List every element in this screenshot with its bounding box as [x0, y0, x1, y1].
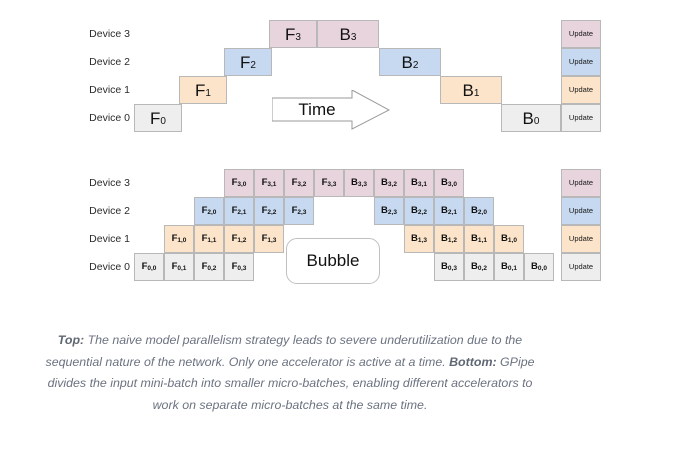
bottom-backward-cell-B00: B0,0 — [524, 253, 554, 281]
bottom-backward-cell-B21-subscript: 2,1 — [448, 210, 457, 217]
top-backward-block-B2: B2 — [379, 48, 441, 76]
bottom-forward-cell-F31: F3,1 — [254, 169, 284, 197]
bottom-backward-cell-B10-subscript: 1,0 — [508, 238, 517, 245]
caption-lead-bottom: Bottom: — [449, 355, 496, 369]
bottom-forward-cell-F03: F0,3 — [224, 253, 254, 281]
top-device-label-0: Device 0 — [72, 104, 130, 132]
bottom-backward-cell-B30: B3,0 — [434, 169, 464, 197]
bottom-forward-cell-F11: F1,1 — [194, 225, 224, 253]
bottom-device-label-3: Device 3 — [72, 169, 130, 197]
bottom-backward-cell-B12: B1,2 — [434, 225, 464, 253]
bottom-forward-cell-F00: F0,0 — [134, 253, 164, 281]
top-backward-block-B0: B0 — [501, 104, 561, 132]
top-backward-block-B1: B1 — [440, 76, 502, 104]
top-update-cell-device-0: Update — [561, 104, 601, 132]
top-forward-block-F3-subscript: 3 — [295, 33, 301, 43]
time-arrow-label: Time — [269, 91, 365, 129]
bottom-forward-cell-F10: F1,0 — [164, 225, 194, 253]
top-update-cell-device-3: Update — [561, 20, 601, 48]
bottom-forward-cell-F03-subscript: 0,3 — [237, 266, 246, 273]
bottom-backward-cell-B31: B3,1 — [404, 169, 434, 197]
top-forward-block-F0: F0 — [134, 104, 182, 132]
bottom-forward-cell-F33-subscript: 3,3 — [327, 182, 336, 189]
bottom-forward-cell-F00-subscript: 0,0 — [147, 266, 156, 273]
bottom-forward-cell-F13: F1,3 — [254, 225, 284, 253]
bottom-forward-cell-F22-subscript: 2,2 — [267, 210, 276, 217]
top-forward-block-F1: F1 — [179, 76, 227, 104]
top-device-label-1: Device 1 — [72, 76, 130, 104]
bottom-forward-cell-F20-subscript: 2,0 — [207, 210, 216, 217]
gpipe-figure: Device 0Device 1Device 2Device 3F0F1F2F3… — [0, 0, 679, 451]
bottom-forward-cell-F12-subscript: 1,2 — [237, 238, 246, 245]
bottom-forward-cell-F33: F3,3 — [314, 169, 344, 197]
bottom-backward-cell-B01: B0,1 — [494, 253, 524, 281]
top-backward-block-B3: B3 — [317, 20, 379, 48]
bottom-backward-cell-B21: B2,1 — [434, 197, 464, 225]
bottom-backward-cell-B32-subscript: 3,2 — [388, 182, 397, 189]
bottom-forward-cell-F02-subscript: 0,2 — [207, 266, 216, 273]
bottom-forward-cell-F20: F2,0 — [194, 197, 224, 225]
top-backward-block-B3-subscript: 3 — [351, 33, 357, 43]
bottom-forward-cell-F23-subscript: 2,3 — [297, 210, 306, 217]
bottom-update-cell-device-3: Update — [561, 169, 601, 197]
bottom-forward-cell-F32: F3,2 — [284, 169, 314, 197]
bottom-backward-cell-B23-subscript: 2,3 — [388, 210, 397, 217]
bottom-backward-cell-B12-subscript: 1,2 — [448, 238, 457, 245]
top-backward-block-B0-subscript: 0 — [534, 117, 540, 127]
bottom-backward-cell-B33: B3,3 — [344, 169, 374, 197]
bottom-backward-cell-B31-subscript: 3,1 — [418, 182, 427, 189]
bottom-backward-cell-B13: B1,3 — [404, 225, 434, 253]
bottom-forward-cell-F01: F0,1 — [164, 253, 194, 281]
top-device-label-2: Device 2 — [72, 48, 130, 76]
bottom-backward-cell-B30-subscript: 3,0 — [448, 182, 457, 189]
bottom-backward-cell-B23: B2,3 — [374, 197, 404, 225]
bottom-device-label-0: Device 0 — [72, 253, 130, 281]
top-update-cell-device-1: Update — [561, 76, 601, 104]
bottom-device-label-1: Device 1 — [72, 225, 130, 253]
bottom-backward-cell-B22: B2,2 — [404, 197, 434, 225]
bottom-forward-cell-F30-subscript: 3,0 — [237, 182, 246, 189]
bottom-backward-cell-B33-subscript: 3,3 — [358, 182, 367, 189]
bottom-forward-cell-F30: F3,0 — [224, 169, 254, 197]
top-forward-block-F2-subscript: 2 — [250, 61, 256, 71]
bottom-backward-cell-B03: B0,3 — [434, 253, 464, 281]
bottom-backward-cell-B13-subscript: 1,3 — [418, 238, 427, 245]
bottom-forward-cell-F02: F0,2 — [194, 253, 224, 281]
bottom-forward-cell-F23: F2,3 — [284, 197, 314, 225]
bottom-forward-cell-F21-subscript: 2,1 — [237, 210, 246, 217]
bottom-backward-cell-B22-subscript: 2,2 — [418, 210, 427, 217]
bottom-device-label-2: Device 2 — [72, 197, 130, 225]
bottom-backward-cell-B11-subscript: 1,1 — [478, 238, 487, 245]
bottom-backward-cell-B02-subscript: 0,2 — [478, 266, 487, 273]
bottom-update-cell-device-2: Update — [561, 197, 601, 225]
bottom-forward-cell-F32-subscript: 3,2 — [297, 182, 306, 189]
bottom-backward-cell-B20: B2,0 — [464, 197, 494, 225]
bottom-backward-cell-B32: B3,2 — [374, 169, 404, 197]
bottom-backward-cell-B01-subscript: 0,1 — [508, 266, 517, 273]
bottom-backward-cell-B03-subscript: 0,3 — [448, 266, 457, 273]
figure-caption: Top: The naive model parallelism strateg… — [40, 330, 540, 417]
top-forward-block-F1-subscript: 1 — [205, 89, 211, 99]
top-forward-block-F0-subscript: 0 — [160, 117, 166, 127]
bubble-box: Bubble — [286, 238, 380, 284]
bottom-update-cell-device-1: Update — [561, 225, 601, 253]
top-device-label-3: Device 3 — [72, 20, 130, 48]
bottom-forward-cell-F31-subscript: 3,1 — [267, 182, 276, 189]
bottom-forward-cell-F13-subscript: 1,3 — [267, 238, 276, 245]
bottom-update-cell-device-0: Update — [561, 253, 601, 281]
bottom-forward-cell-F01-subscript: 0,1 — [177, 266, 186, 273]
top-backward-block-B1-subscript: 1 — [474, 89, 480, 99]
bottom-backward-cell-B11: B1,1 — [464, 225, 494, 253]
bottom-backward-cell-B10: B1,0 — [494, 225, 524, 253]
bottom-backward-cell-B02: B0,2 — [464, 253, 494, 281]
bottom-forward-cell-F12: F1,2 — [224, 225, 254, 253]
bottom-forward-cell-F10-subscript: 1,0 — [177, 238, 186, 245]
bottom-backward-cell-B20-subscript: 2,0 — [478, 210, 487, 217]
top-forward-block-F3: F3 — [269, 20, 317, 48]
bottom-backward-cell-B00-subscript: 0,0 — [538, 266, 547, 273]
bottom-forward-cell-F22: F2,2 — [254, 197, 284, 225]
caption-lead-top: Top: — [58, 333, 84, 347]
bottom-forward-cell-F21: F2,1 — [224, 197, 254, 225]
time-arrow: Time — [272, 90, 390, 130]
top-forward-block-F2: F2 — [224, 48, 272, 76]
top-update-cell-device-2: Update — [561, 48, 601, 76]
top-backward-block-B2-subscript: 2 — [413, 61, 419, 71]
bottom-forward-cell-F11-subscript: 1,1 — [207, 238, 216, 245]
